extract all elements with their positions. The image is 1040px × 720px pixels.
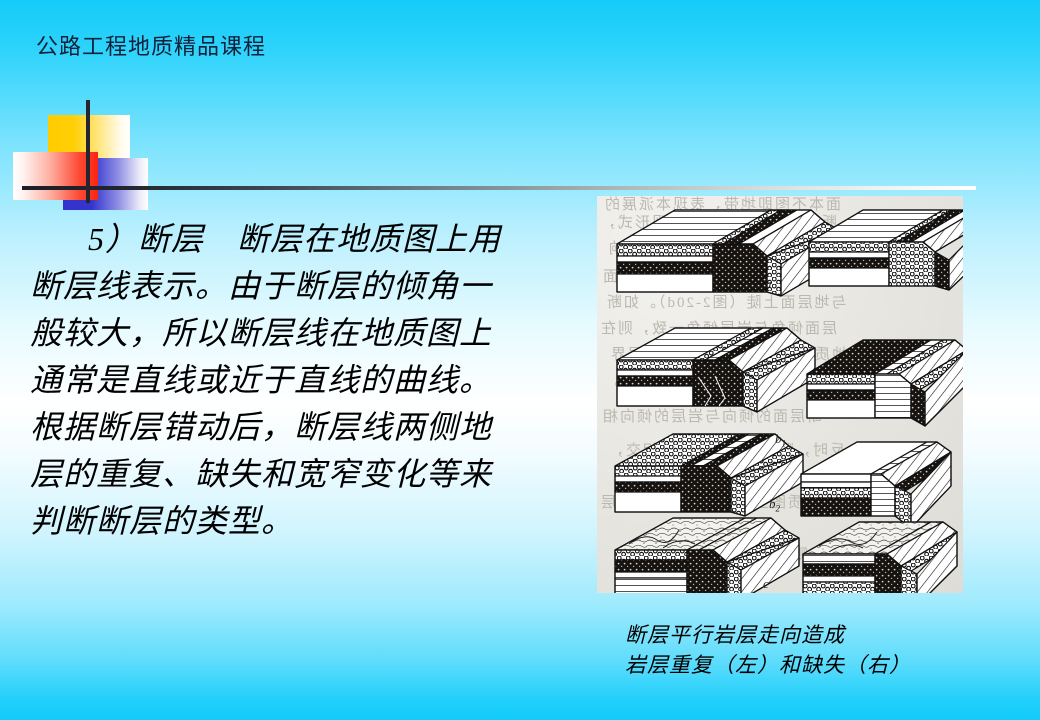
body-line: 断层线表示。由于断层的倾角一 [30,263,550,310]
body-line: 判断断层的类型。 [30,498,550,545]
body-line-text: 般较大，所以断层线在地质图上 [30,315,492,351]
figure-caption-line-1: 断层平行岩层走向造成 [625,620,1025,650]
body-line: 5）断层 断层在地质图上用 [30,216,550,263]
fault-block-diagram-drawing [597,196,963,593]
body-line-text: 层的重复、缺失和宽窄变化等来 [30,456,492,492]
body-line: 层的重复、缺失和宽窄变化等来 [30,451,550,498]
body-line-text: 判断断层的类型。 [30,503,294,539]
body-line-text: 通常是直线或近于直线的曲线。 [30,362,492,398]
body-line: 根据断层错动后，断层线两侧地 [30,404,550,451]
figure-panel-label-c: c [763,576,769,592]
scanned-page-background: 面本不图即地带，表现本派展的 断层线在地质图上的表现形式， 倾角的大小对断层线形… [597,196,963,593]
figure-caption: 断层平行岩层走向造成 岩层重复（左）和缺失（右） [625,620,1025,680]
presentation-slide: 公路工程地质精品课程 5）断层 断层在地质图上用 断层线表示。由于断层的倾角一 … [0,0,1040,720]
body-line: 般较大，所以断层线在地质图上 [30,310,550,357]
body-paragraph: 5）断层 断层在地质图上用 断层线表示。由于断层的倾角一 般较大，所以断层线在地… [30,216,550,545]
horizontal-rule [22,186,976,190]
body-line-text: 5）断层 断层在地质图上用 [88,221,501,257]
body-line-text: 断层线表示。由于断层的倾角一 [30,268,492,304]
figure-panel-label-b2: b2 [769,496,780,514]
vertical-rule [86,100,90,203]
body-line: 通常是直线或近于直线的曲线。 [30,357,550,404]
horizontal-rule-fill [22,186,976,190]
page-title: 公路工程地质精品课程 [36,33,266,61]
slide-decoration [0,90,200,215]
figure-panel-label-b1: b1 [775,431,786,449]
figure-panel-label-a: a [765,276,772,292]
body-line-text: 根据断层错动后，断层线两侧地 [30,409,492,445]
fault-block-diagrams-figure: 面本不图即地带，表现本派展的 断层线在地质图上的表现形式， 倾角的大小对断层线形… [597,196,963,593]
figure-caption-line-2: 岩层重复（左）和缺失（右） [625,650,1025,680]
